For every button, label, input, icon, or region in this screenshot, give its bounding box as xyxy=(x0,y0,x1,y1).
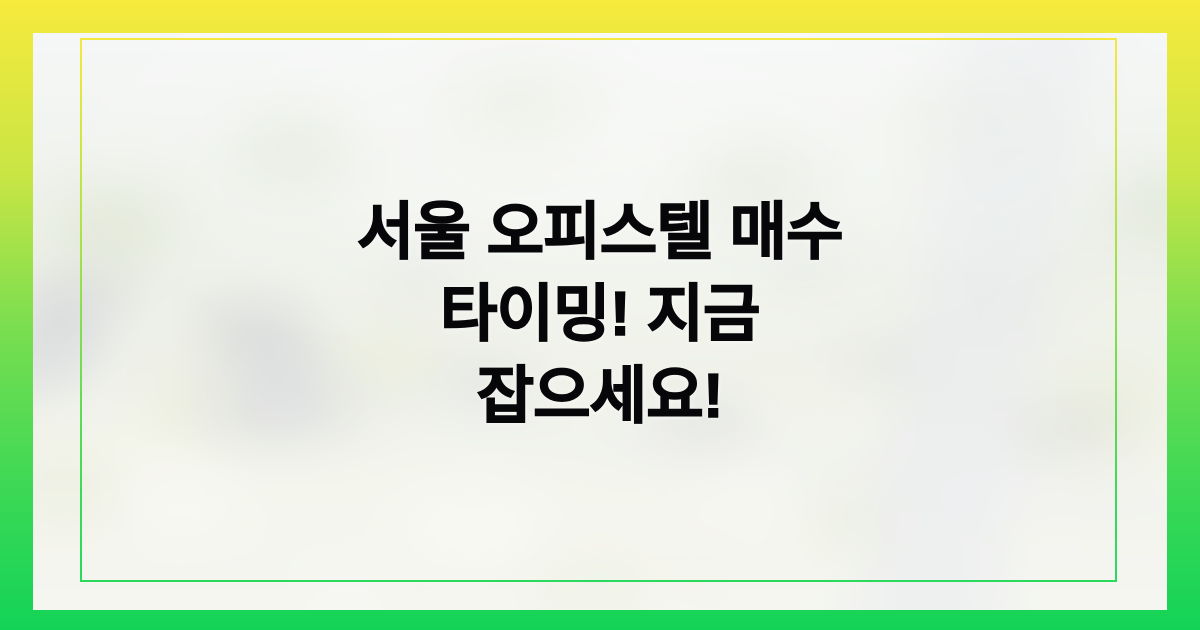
title-line-1: 서울 오피스텔 매수 xyxy=(357,192,843,274)
title-line-3: 잡으세요! xyxy=(357,356,843,438)
page-title: 서울 오피스텔 매수 타이밍! 지금 잡으세요! xyxy=(357,192,843,437)
title-block: 서울 오피스텔 매수 타이밍! 지금 잡으세요! xyxy=(0,0,1200,630)
promo-card: 서울 오피스텔 매수 타이밍! 지금 잡으세요! xyxy=(0,0,1200,630)
title-line-2: 타이밍! 지금 xyxy=(357,274,843,356)
